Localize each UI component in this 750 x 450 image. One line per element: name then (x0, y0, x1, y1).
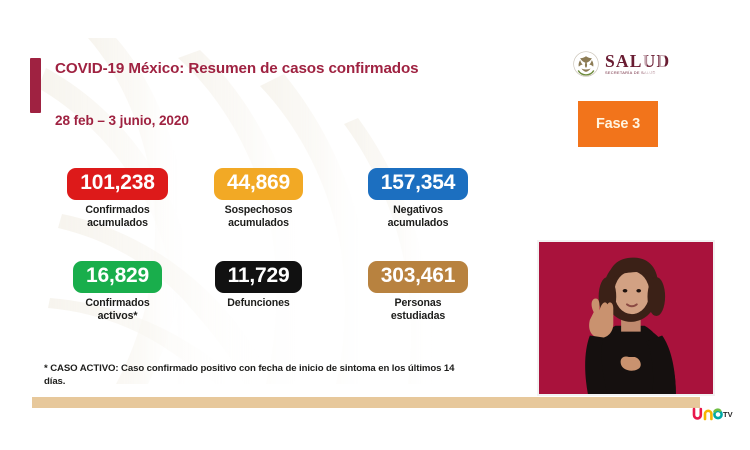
fase-badge: Fase 3 (578, 101, 658, 147)
stat-caption: Negativos acumulados (352, 204, 484, 230)
stat-card-confirmados-activos: 16,829 Confirmados activos* (55, 261, 180, 323)
stat-caption-line2: estudiadas (352, 310, 484, 323)
stat-caption: Sospechosos acumulados (196, 204, 321, 230)
footnote-caso-activo: * CASO ACTIVO: Caso confirmado positivo … (44, 362, 474, 388)
covid-summary-slide: COVID-19 México: Resumen de casos confir… (0, 0, 750, 450)
stat-value: 11,729 (215, 261, 303, 293)
stat-caption-line1: Personas (352, 297, 484, 310)
stat-caption-line1: Sospechosos (196, 204, 321, 217)
stat-caption: Defunciones (196, 297, 321, 310)
stat-caption: Personas estudiadas (352, 297, 484, 323)
stat-caption-line1: Confirmados (55, 297, 180, 310)
stat-card-sospechosos-acumulados: 44,869 Sospechosos acumulados (196, 168, 321, 230)
stat-caption-line2: acumulados (196, 217, 321, 230)
mexico-eagle-emblem-icon (573, 51, 599, 77)
unotv-logo: TV (690, 406, 736, 423)
stat-caption-line2: acumulados (352, 217, 484, 230)
stat-caption: Confirmados acumulados (55, 204, 180, 230)
stat-card-personas-estudiadas: 303,461 Personas estudiadas (352, 261, 484, 323)
page-title: COVID-19 México: Resumen de casos confir… (55, 60, 485, 78)
stat-value: 157,354 (368, 168, 469, 200)
svg-text:TV: TV (723, 410, 733, 419)
stat-value: 16,829 (73, 261, 162, 293)
stat-caption-line1: Confirmados (55, 204, 180, 217)
salud-wordmark-text: SALUD (605, 53, 670, 71)
stat-caption-line1: Negativos (352, 204, 484, 217)
bottom-decorative-bar (32, 397, 700, 408)
salud-ministry-logo: SALUD SECRETARÍA DE SALUD (573, 48, 733, 80)
stat-caption-line2: acumulados (55, 217, 180, 230)
salud-wordmark: SALUD SECRETARÍA DE SALUD (605, 53, 670, 75)
stat-card-negativos-acumulados: 157,354 Negativos acumulados (352, 168, 484, 230)
stat-caption: Confirmados activos* (55, 297, 180, 323)
stat-card-defunciones: 11,729 Defunciones (196, 261, 321, 310)
stat-value: 303,461 (368, 261, 469, 293)
stat-value: 101,238 (67, 168, 168, 200)
title-accent-bar (30, 58, 41, 113)
stat-value: 44,869 (214, 168, 303, 200)
salud-wordmark-subtitle: SECRETARÍA DE SALUD (605, 71, 670, 75)
stat-card-confirmados-acumulados: 101,238 Confirmados acumulados (55, 168, 180, 230)
interpreter-figure (539, 242, 713, 394)
date-range-subtitle: 28 feb – 3 junio, 2020 (55, 113, 189, 128)
stat-caption-line1: Defunciones (196, 297, 321, 310)
stat-caption-line2: activos* (55, 310, 180, 323)
sign-language-interpreter-video[interactable] (537, 240, 715, 396)
